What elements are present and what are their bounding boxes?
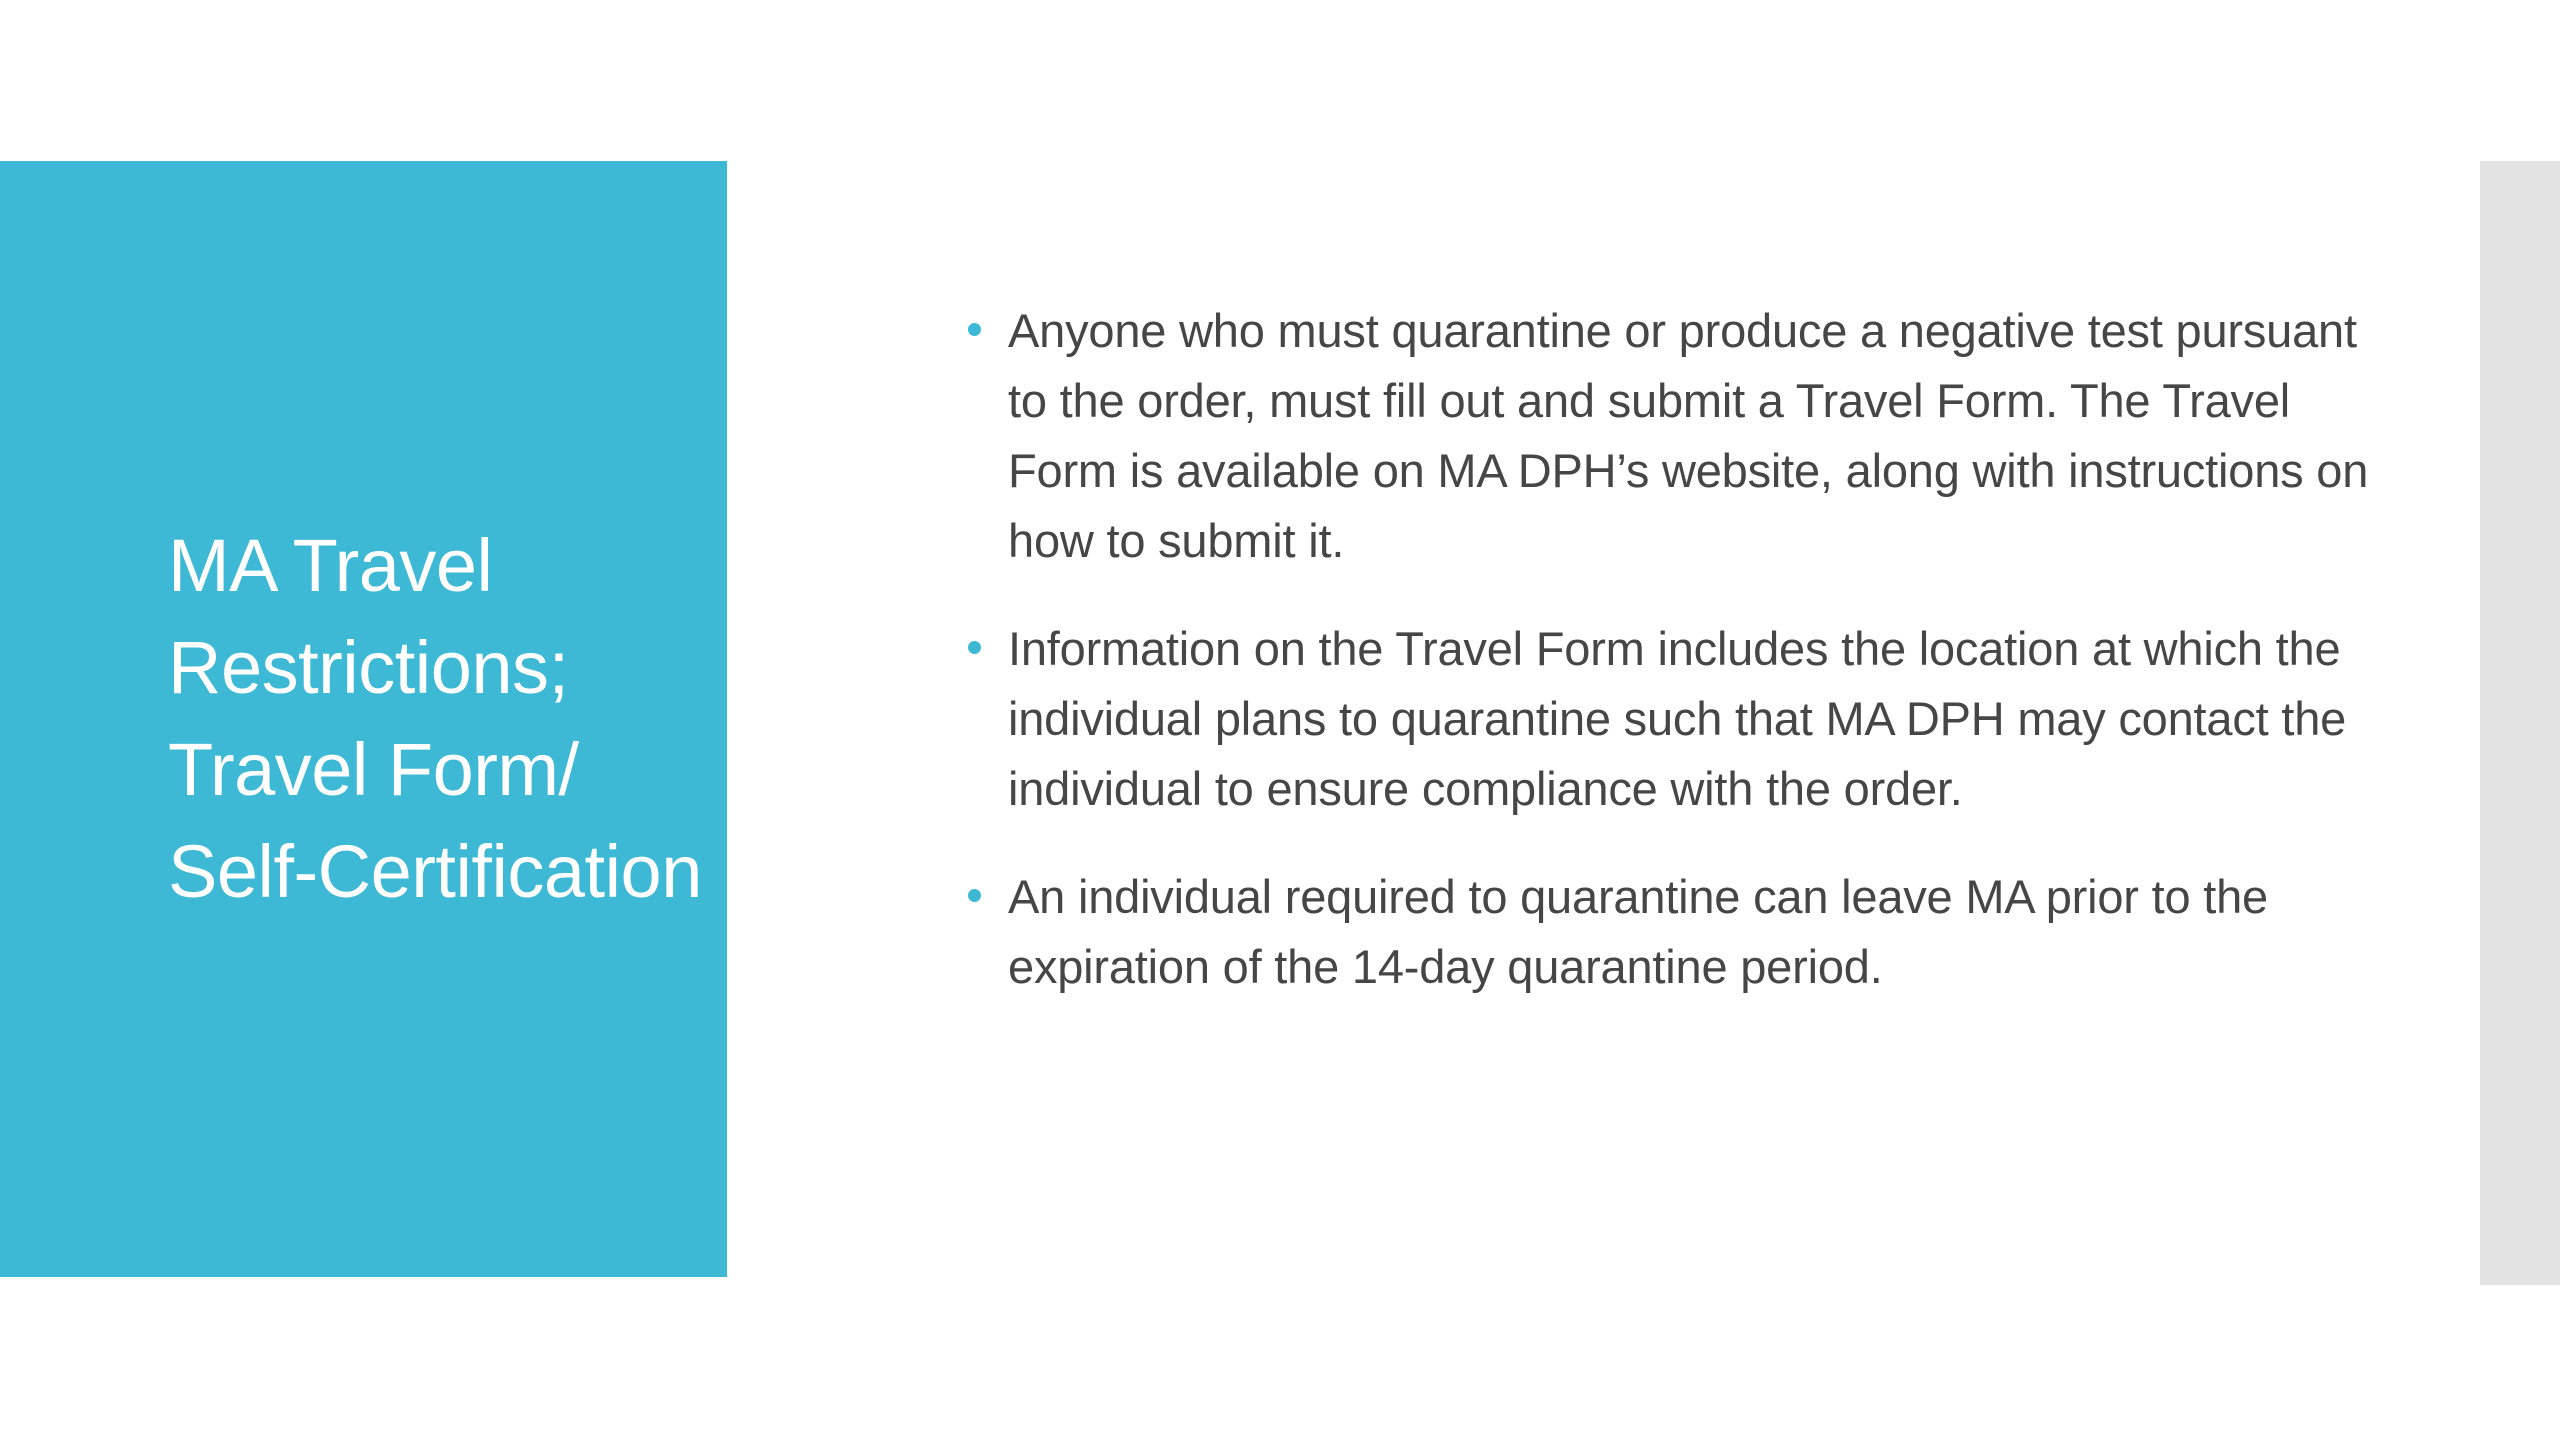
- title-panel: MA Travel Restrictions; Travel Form/ Sel…: [0, 161, 727, 1277]
- bullet-dot-icon: [968, 641, 981, 654]
- bullet-text: Anyone who must quarantine or produce a …: [1008, 296, 2380, 576]
- bullet-text: Information on the Travel Form includes …: [1008, 614, 2380, 824]
- bullet-item: An individual required to quarantine can…: [960, 862, 2380, 1002]
- slide-title: MA Travel Restrictions; Travel Form/ Sel…: [0, 515, 727, 923]
- bullet-text: An individual required to quarantine can…: [1008, 862, 2380, 1002]
- bullet-list: Anyone who must quarantine or produce a …: [960, 296, 2380, 1002]
- bullet-item: Information on the Travel Form includes …: [960, 614, 2380, 824]
- bullet-dot-icon: [968, 323, 981, 336]
- bullet-dot-icon: [968, 889, 981, 902]
- bullet-item: Anyone who must quarantine or produce a …: [960, 296, 2380, 576]
- slide-canvas: MA Travel Restrictions; Travel Form/ Sel…: [0, 0, 2560, 1440]
- right-edge-strip: [2480, 161, 2560, 1285]
